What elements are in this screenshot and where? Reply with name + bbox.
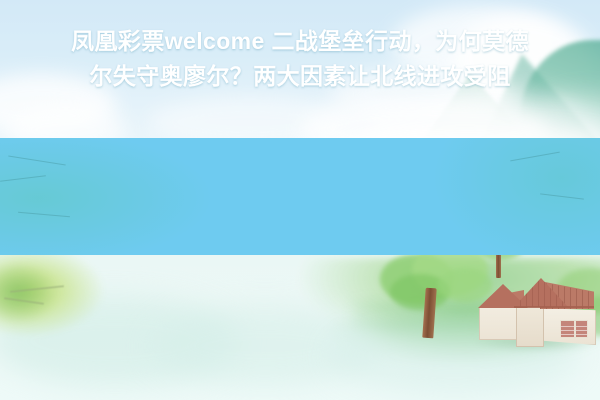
left-foliage bbox=[0, 262, 56, 324]
article-title: 凤凰彩票welcome 二战堡垒行动，为何莫德 尔失守奥廖尔？两大因素让北线进攻… bbox=[0, 0, 600, 117]
house-window bbox=[560, 320, 588, 338]
house-eave bbox=[514, 306, 594, 308]
banner-texture bbox=[0, 138, 220, 255]
poster-image: 凤凰彩票welcome 二战堡垒行动，为何莫德 尔失守奥廖尔？两大因素让北线进攻… bbox=[0, 0, 600, 400]
banner-texture bbox=[430, 138, 600, 255]
house bbox=[478, 276, 594, 350]
title-banner bbox=[0, 138, 600, 255]
window-mullion bbox=[574, 321, 576, 337]
title-line-2: 尔失守奥廖尔？两大因素让北线进攻受阻 bbox=[89, 60, 510, 93]
house-wall-front bbox=[516, 306, 544, 347]
tree-trunk bbox=[422, 288, 436, 339]
title-line-1: 凤凰彩票welcome 二战堡垒行动，为何莫德 bbox=[71, 25, 529, 58]
